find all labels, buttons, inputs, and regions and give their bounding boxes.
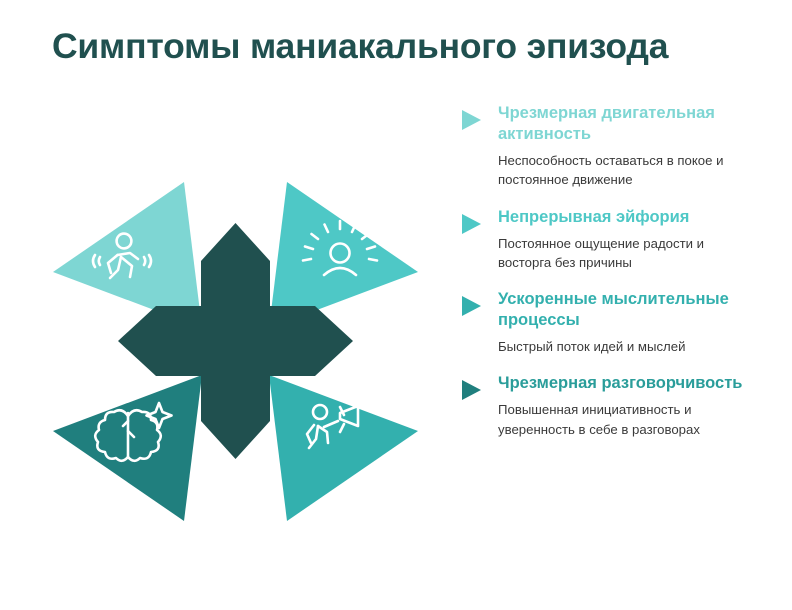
symptom-description: Повышенная инициативность и уверенность … [498, 400, 756, 438]
triangle-right-icon [462, 296, 481, 316]
page-title: Симптомы маниакального эпизода [52, 27, 752, 66]
triangle-right-icon [462, 380, 481, 400]
symptom-heading: Ускоренные мыслительные процессы [498, 289, 762, 331]
triangle-right-icon [462, 214, 481, 234]
symptom-heading: Чрезмерная разговорчивость [498, 373, 762, 394]
symptom-diagram [48, 163, 423, 538]
symptom-description: Постоянное ощущение радости и восторга б… [498, 234, 756, 272]
list-item: Чрезмерная двигательная активность Неспо… [462, 103, 762, 190]
symptom-description: Неспособность оставаться в покое и посто… [498, 151, 756, 189]
list-item: Чрезмерная разговорчивость Повышенная ин… [462, 373, 762, 438]
symptom-list: Чрезмерная двигательная активность Неспо… [462, 103, 762, 439]
wedge-bottom-left [53, 375, 202, 521]
triangle-right-icon [462, 110, 481, 130]
list-item: Непрерывная эйфория Постоянное ощущение … [462, 207, 762, 272]
infographic-page: Симптомы маниакального эпизода [0, 0, 792, 610]
list-item: Ускоренные мыслительные процессы Быстрый… [462, 289, 762, 356]
wedge-bottom-right [269, 375, 418, 521]
symptom-description: Быстрый поток идей и мыслей [498, 337, 756, 356]
symptom-heading: Чрезмерная двигательная активность [498, 103, 762, 145]
symptom-heading: Непрерывная эйфория [498, 207, 762, 228]
